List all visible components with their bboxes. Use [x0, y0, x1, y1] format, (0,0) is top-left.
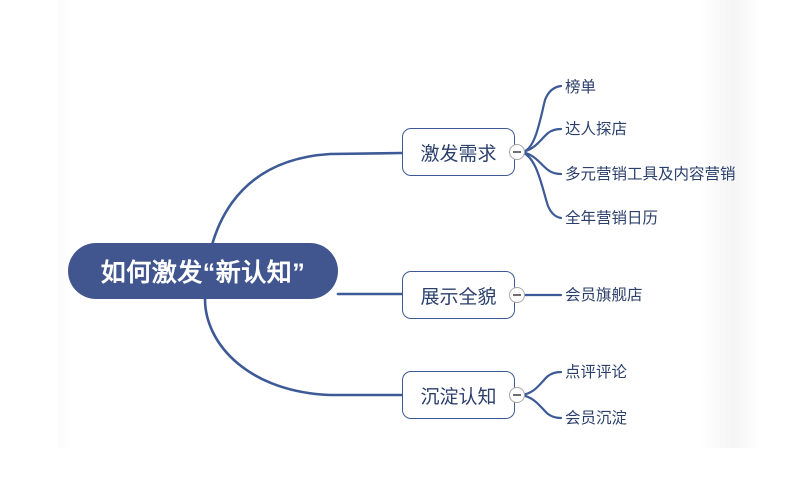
collapse-minus-icon-branch-1[interactable] [509, 144, 525, 160]
collapse-minus-icon-branch-2[interactable] [509, 287, 525, 303]
connector-branch-3-leaf-2 [521, 395, 561, 418]
connector-branch-1-leaf-1 [521, 86, 561, 152]
leaf-label-3-2[interactable]: 会员沉淀 [565, 411, 627, 427]
root-node-label: 如何激发“新认知” [101, 253, 306, 289]
leaf-label-2-1[interactable]: 会员旗舰店 [565, 288, 643, 304]
branch-node-3[interactable]: 沉淀认知 [402, 371, 515, 419]
mindmap-canvas: 如何激发“新认知” 激发需求 展示全貌 沉淀认知 榜单 达人探店 多元营销工具及… [0, 0, 802, 497]
connector-branch-3-leaf-1 [521, 372, 561, 395]
leaf-label-1-2[interactable]: 达人探店 [565, 122, 627, 138]
leaf-label-3-1[interactable]: 点评评论 [565, 365, 627, 381]
branch-node-1-label: 激发需求 [420, 139, 496, 166]
root-node[interactable]: 如何激发“新认知” [68, 243, 338, 299]
leaf-label-1-4[interactable]: 全年营销日历 [565, 211, 658, 227]
branch-node-2-label: 展示全貌 [420, 282, 496, 309]
connector-root-branch-3 [205, 299, 402, 395]
leaf-label-1-1[interactable]: 榜单 [565, 80, 596, 96]
branch-node-1[interactable]: 激发需求 [402, 128, 515, 176]
connector-branch-1-leaf-4 [521, 152, 561, 218]
collapse-minus-icon-branch-3[interactable] [509, 387, 525, 403]
branch-node-3-label: 沉淀认知 [420, 382, 496, 409]
branch-node-2[interactable]: 展示全貌 [402, 271, 515, 319]
leaf-label-1-3[interactable]: 多元营销工具及内容营销 [565, 167, 736, 183]
